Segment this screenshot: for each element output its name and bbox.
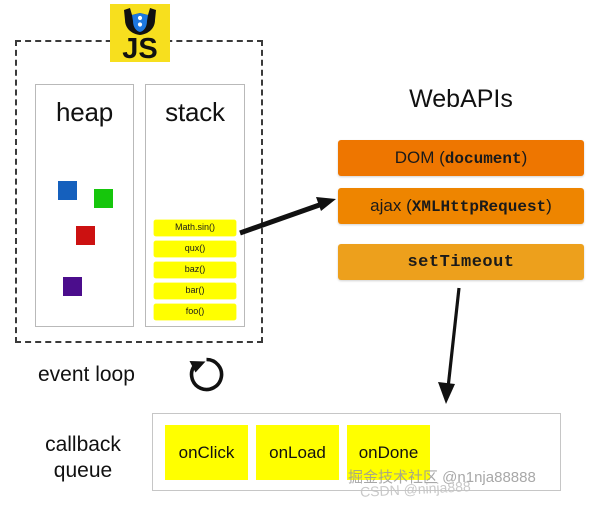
diagram-canvas: JS heap stack Math.sin() qux() baz() bar… xyxy=(0,0,601,527)
heap-object-purple xyxy=(63,277,82,296)
webapi-item-settimeout: setTimeout xyxy=(338,244,584,280)
webapi-label: DOM (document) xyxy=(395,148,528,168)
stack-frame: baz() xyxy=(154,262,236,278)
stack-panel: stack Math.sin() qux() baz() bar() foo() xyxy=(145,84,245,327)
webapi-item-ajax: ajax (XMLHttpRequest) xyxy=(338,188,584,224)
callback-item: onClick xyxy=(165,425,248,480)
event-loop-label: event loop xyxy=(38,363,135,387)
stack-frame: bar() xyxy=(154,283,236,299)
callback-item: onLoad xyxy=(256,425,339,480)
callback-queue-label-line1: callback xyxy=(18,432,148,458)
circular-arrow-icon xyxy=(186,355,226,395)
svg-text:JS: JS xyxy=(122,33,157,62)
heap-object-green xyxy=(94,189,113,208)
js-logo-icon: JS xyxy=(110,4,170,62)
webapis-title: WebAPIs xyxy=(338,85,584,114)
stack-frame-list: Math.sin() qux() baz() bar() foo() xyxy=(154,220,236,320)
stack-frame: Math.sin() xyxy=(154,220,236,236)
webapi-label: setTimeout xyxy=(407,253,514,272)
webapis-to-queue-arrow xyxy=(438,288,459,404)
heap-title: heap xyxy=(36,97,133,128)
callback-queue-label: callback queue xyxy=(18,432,148,485)
stack-frame: qux() xyxy=(154,241,236,257)
stack-frame: foo() xyxy=(154,304,236,320)
webapi-item-dom: DOM (document) xyxy=(338,140,584,176)
heap-object-blue xyxy=(58,181,77,200)
heap-panel: heap xyxy=(35,84,134,327)
callback-queue-label-line2: queue xyxy=(18,458,148,484)
heap-object-red xyxy=(76,226,95,245)
stack-title: stack xyxy=(146,97,244,128)
webapi-label: ajax (XMLHttpRequest) xyxy=(370,196,552,216)
